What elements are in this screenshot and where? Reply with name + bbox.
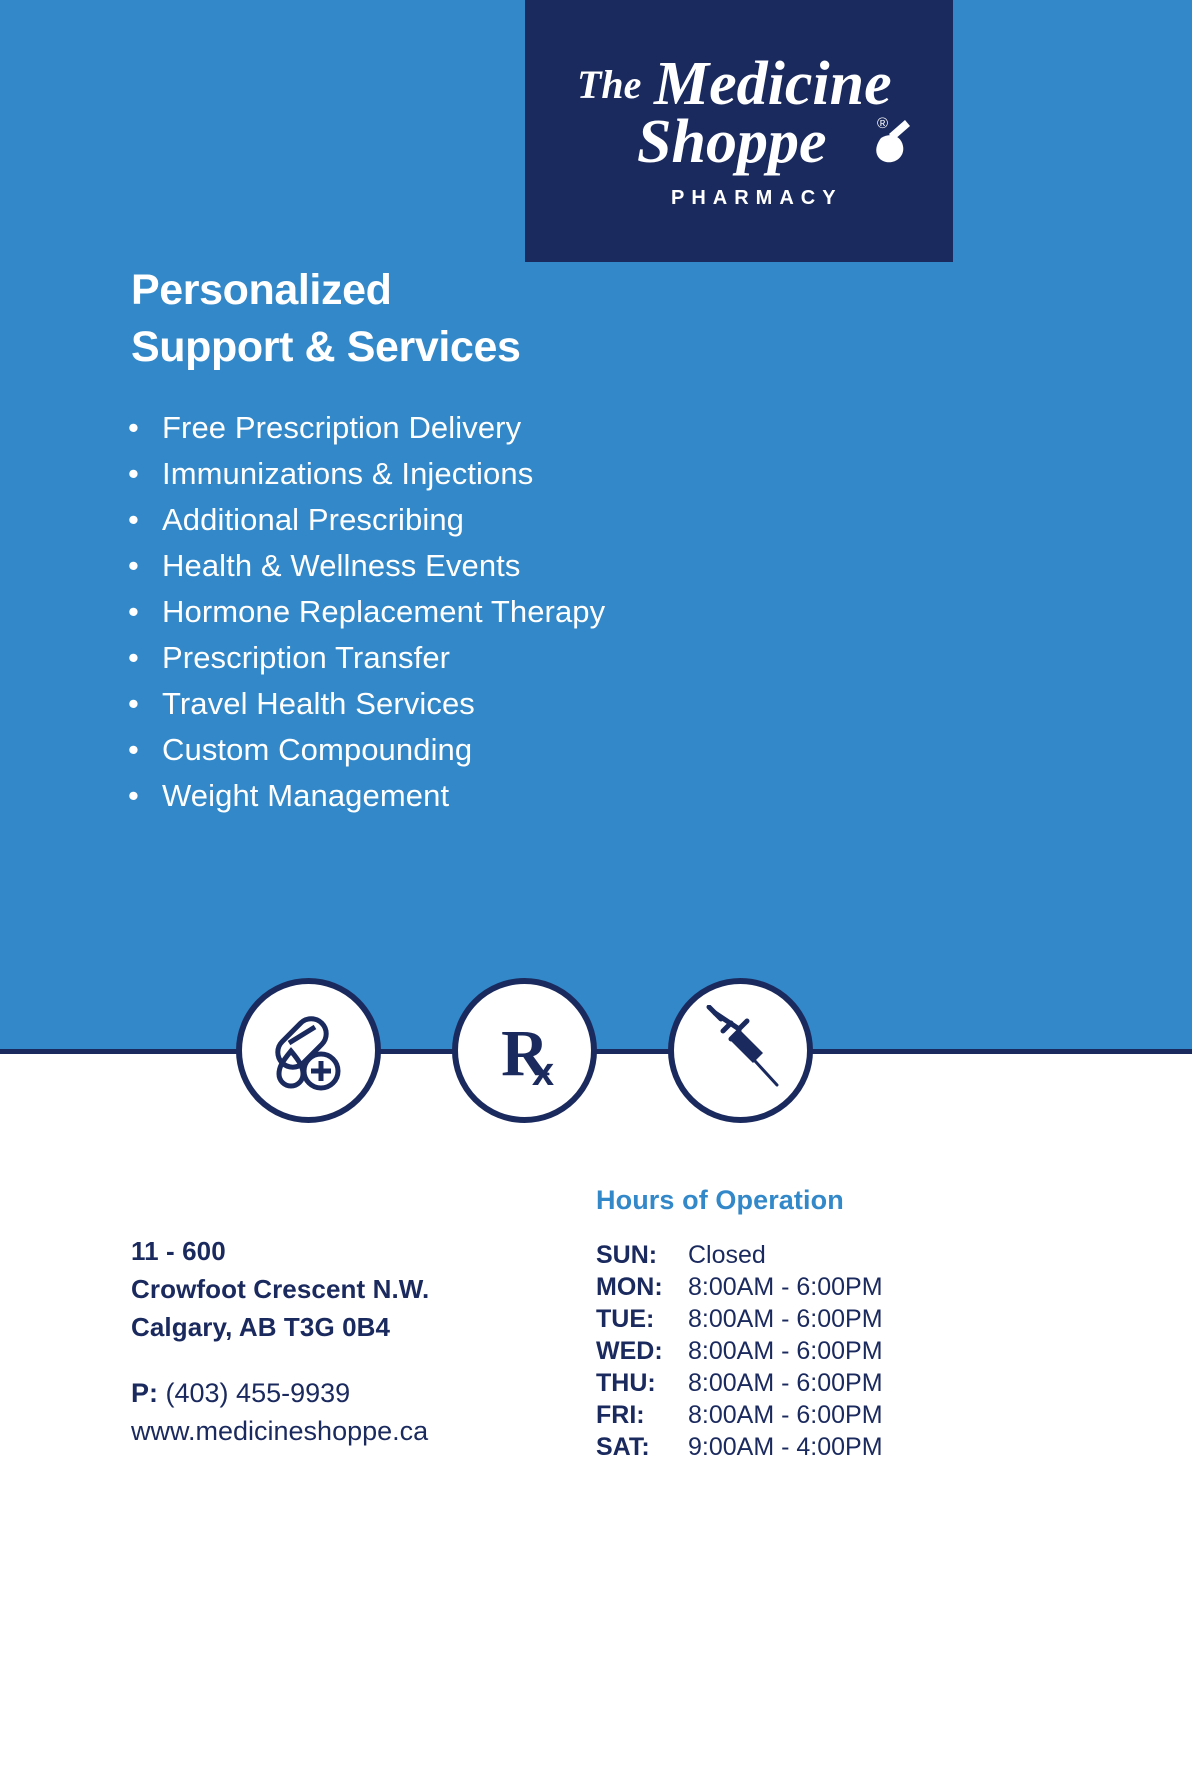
rx-glyph: R x [479,1005,571,1097]
hours-day: SUN: [596,1239,688,1271]
page-title: Personalized Support & Services [131,262,651,376]
medicine-shoppe-logo: The Medicine Shoppe ® PHARMACY [559,46,919,216]
hours-title: Hours of Operation [596,1185,1016,1216]
table-row: SAT: 9:00AM - 4:00PM [596,1431,883,1463]
headline-line-1: Personalized [131,262,651,319]
headline-line-2: Support & Services [131,319,651,376]
table-row: THU: 8:00AM - 6:00PM [596,1367,883,1399]
address-line-3: Calgary, AB T3G 0B4 [131,1308,561,1346]
hours-time: 8:00AM - 6:00PM [688,1367,883,1399]
pills-capsule-plus-glyph [263,1005,355,1097]
address-block: 11 - 600 Crowfoot Crescent N.W. Calgary,… [131,1232,561,1450]
list-item: Custom Compounding [124,727,884,773]
phone-label: P: [131,1378,158,1408]
hours-day: SAT: [596,1431,688,1463]
svg-text:x: x [531,1050,553,1094]
icon-row: R x Rx [0,978,1192,1123]
list-item: Prescription Transfer [124,635,884,681]
list-item: Free Prescription Delivery [124,405,884,451]
address-line-2: Crowfoot Crescent N.W. [131,1270,561,1308]
hours-time: Closed [688,1239,883,1271]
list-item: Additional Prescribing [124,497,884,543]
table-row: WED: 8:00AM - 6:00PM [596,1335,883,1367]
address-line-1: 11 - 600 [131,1232,561,1270]
website-link[interactable]: www.medicineshoppe.ca [131,1412,561,1450]
hours-day: WED: [596,1335,688,1367]
table-row: FRI: 8:00AM - 6:00PM [596,1399,883,1431]
contact-block: P: (403) 455-9939 www.medicineshoppe.ca [131,1374,561,1450]
hours-time: 8:00AM - 6:00PM [688,1303,883,1335]
svg-text:®: ® [877,115,888,132]
table-row: MON: 8:00AM - 6:00PM [596,1271,883,1303]
rx-prescription-icon: R x Rx [452,978,597,1123]
svg-text:The: The [577,62,641,107]
hours-day: MON: [596,1271,688,1303]
syringe-glyph [695,1005,787,1097]
table-row: SUN: Closed [596,1239,883,1271]
list-item: Immunizations & Injections [124,451,884,497]
hours-time: 9:00AM - 4:00PM [688,1431,883,1463]
hours-day: FRI: [596,1399,688,1431]
svg-text:Shoppe: Shoppe [637,108,826,176]
list-item: Hormone Replacement Therapy [124,589,884,635]
phone-row[interactable]: P: (403) 455-9939 [131,1374,561,1412]
list-item: Travel Health Services [124,681,884,727]
hours-time: 8:00AM - 6:00PM [688,1399,883,1431]
phone-number[interactable]: (403) 455-9939 [166,1378,351,1408]
list-item: Weight Management [124,773,884,819]
list-item: Health & Wellness Events [124,543,884,589]
svg-text:PHARMACY: PHARMACY [671,187,843,209]
table-row: TUE: 8:00AM - 6:00PM [596,1303,883,1335]
hours-of-operation-block: Hours of Operation SUN: Closed MON: 8:00… [596,1185,1016,1463]
postal-address: 11 - 600 Crowfoot Crescent N.W. Calgary,… [131,1232,561,1346]
hours-day: TUE: [596,1303,688,1335]
syringe-injection-icon [668,978,813,1123]
hours-time: 8:00AM - 6:00PM [688,1335,883,1367]
hours-day: THU: [596,1367,688,1399]
brand-logo-block: The Medicine Shoppe ® PHARMACY The Medic… [525,0,953,262]
hours-table: SUN: Closed MON: 8:00AM - 6:00PM TUE: 8:… [596,1239,883,1463]
pills-capsule-plus-icon [236,978,381,1123]
services-list: Free Prescription Delivery Immunizations… [124,405,884,819]
hours-time: 8:00AM - 6:00PM [688,1271,883,1303]
